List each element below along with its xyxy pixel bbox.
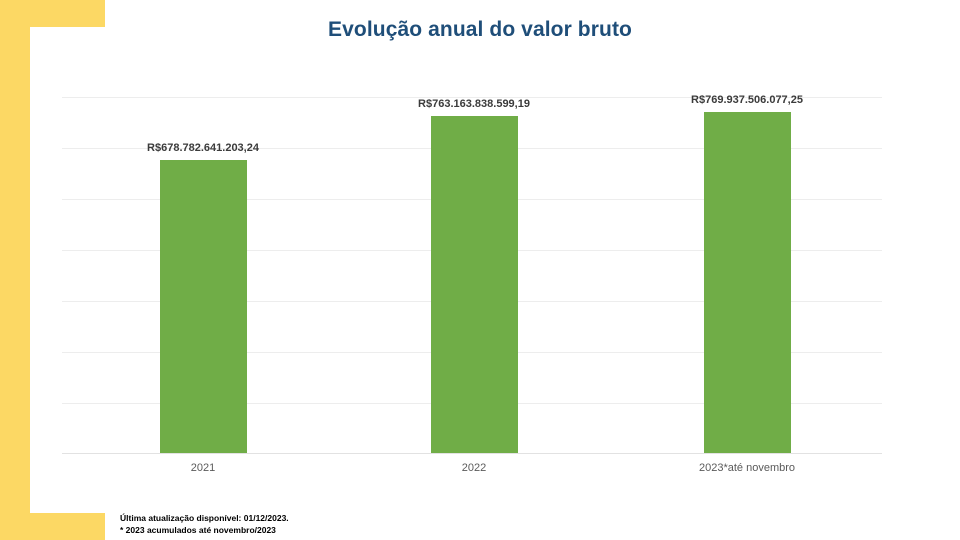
yellow-bottom-bar	[0, 513, 105, 540]
bar-value-label-2023: R$769.937.506.077,25	[691, 94, 803, 106]
bar-2022[interactable]	[431, 116, 518, 453]
bar-value-label-2021: R$678.782.641.203,24	[147, 142, 259, 154]
bar-value-label-2022: R$763.163.838.599,19	[418, 98, 530, 110]
gridline-baseline	[62, 453, 882, 454]
footnote-last-update: Última atualização disponível: 01/12/202…	[120, 512, 289, 524]
bar-2023[interactable]	[704, 112, 791, 453]
category-label-2023: 2023*até novembro	[699, 462, 795, 474]
category-label-2021: 2021	[191, 462, 215, 474]
chart-title: Evolução anual do valor bruto	[0, 18, 960, 42]
bar-2021[interactable]	[160, 160, 247, 453]
yellow-left-bar	[0, 0, 30, 540]
category-label-2022: 2022	[462, 462, 486, 474]
footnote-accumulated: * 2023 acumulados até novembro/2023	[120, 524, 289, 536]
footnotes-block: Última atualização disponível: 01/12/202…	[120, 512, 289, 536]
slide-canvas: Evolução anual do valor bruto R$678.782.…	[0, 0, 960, 540]
